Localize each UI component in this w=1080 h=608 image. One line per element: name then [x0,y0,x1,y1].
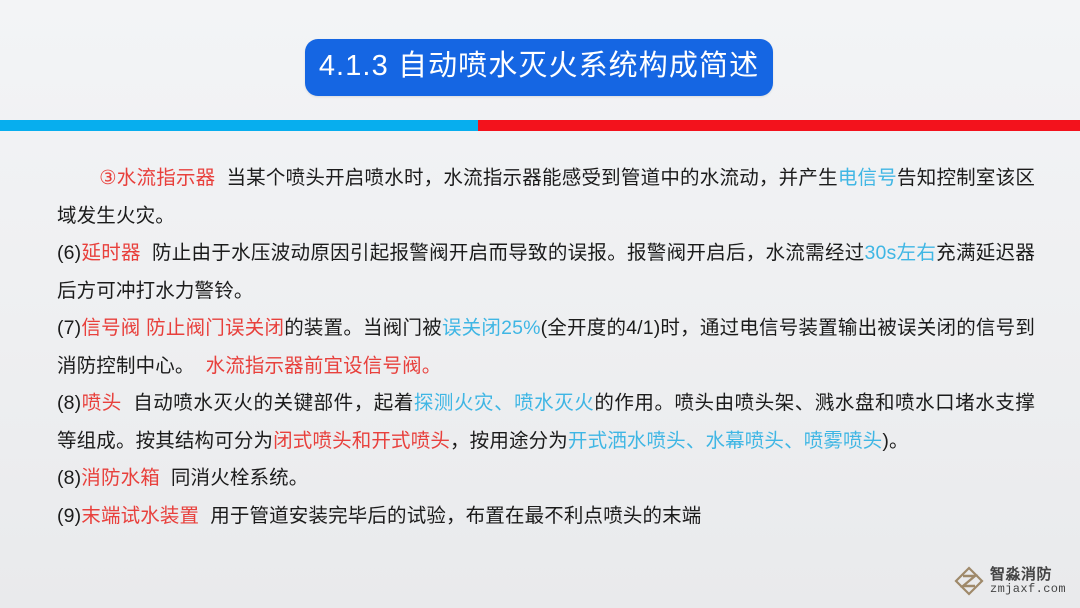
p3-term-2: 水流指示器前宜设信号阀。 [206,355,442,377]
p4-text-4: )。 [882,430,908,452]
brand-name-cn: 智淼消防 [990,567,1066,583]
paragraph-retarder: (6)延时器防止由于水压波动原因引起报警阀开启而导致的误报。报警阀开启后，水流需… [57,235,1035,310]
paragraph-water-flow-indicator: ③水流指示器当某个喷头开启喷水时，水流指示器能感受到管道中的水流动，并产生电信号… [57,160,1035,235]
p4-term: 喷头 [81,392,122,414]
p2-text-1: 防止由于水压波动原因引起报警阀开启而导致的误报。报警阀开启后，水流需经过 [152,242,865,264]
brand-site-url: zmjaxf.com [990,583,1066,596]
paragraph-signal-valve: (7)信号阀 防止阀门误关闭的装置。当阀门被误关闭25%(全开度的4/1)时，通… [57,310,1035,385]
title-area: 4.1.3 自动喷水灭火系统构成简述 [0,0,1080,118]
p1-highlight-1: 电信号 [838,167,897,189]
divider-blue-segment [0,120,478,131]
p4-text-1: 自动喷水灭火的关键部件，起着 [133,392,414,414]
paragraph-end-test-device: (9)末端试水装置用于管道安装完毕后的试验，布置在最不利点喷头的末端 [57,498,1035,536]
p1-marker: ③ [99,167,117,189]
p2-marker: (6) [57,242,81,264]
p2-term: 延时器 [81,242,141,264]
p3-text-1: 的装置。当阀门被 [284,317,442,339]
p4-text-3: ，按用途分为 [450,430,568,452]
header-divider [0,120,1080,131]
p4-marker: (8) [57,392,81,414]
brand-text-block: 智淼消防 zmjaxf.com [990,567,1066,595]
p1-text-1: 当某个喷头开启喷水时，水流指示器能感受到管道中的水流动，并产生 [226,167,837,189]
p4-highlight-1: 探测火灾、喷水灭火 [414,392,594,414]
page-title: 4.1.3 自动喷水灭火系统构成简述 [319,52,759,83]
slide-canvas: 4.1.3 自动喷水灭火系统构成简述 ③水流指示器当某个喷头开启喷水时，水流指示… [0,0,1080,608]
p6-marker: (9) [57,505,81,527]
p5-marker: (8) [57,467,81,489]
p4-highlight-2: 开式洒水喷头、水幕喷头、喷雾喷头 [568,430,882,452]
p6-text-1: 用于管道安装完毕后的试验，布置在最不利点喷头的末端 [210,505,701,527]
p2-highlight-1: 30s左右 [865,242,937,264]
watermark: 智淼消防 zmjaxf.com [954,566,1066,596]
paragraph-sprinkler-head: (8)喷头自动喷水灭火的关键部件，起着探测火灾、喷水灭火的作用。喷头由喷头架、溅… [57,385,1035,460]
brand-logo-icon [954,566,984,596]
p3-highlight-1: 误关闭25% [442,317,541,339]
p3-marker: (7) [57,317,81,339]
slide-title-pill: 4.1.3 自动喷水灭火系统构成简述 [305,39,773,96]
divider-red-segment [478,120,1080,131]
slide-body: ③水流指示器当某个喷头开启喷水时，水流指示器能感受到管道中的水流动，并产生电信号… [57,160,1035,535]
p3-term: 信号阀 防止阀门误关闭 [81,317,284,339]
paragraph-fire-water-tank: (8)消防水箱同消火栓系统。 [57,460,1035,498]
p1-term: 水流指示器 [117,167,216,189]
p4-term-2: 闭式喷头和开式喷头 [273,430,450,452]
p5-text-1: 同消火栓系统。 [171,467,309,489]
p5-term: 消防水箱 [81,467,160,489]
p6-term: 末端试水装置 [81,505,199,527]
